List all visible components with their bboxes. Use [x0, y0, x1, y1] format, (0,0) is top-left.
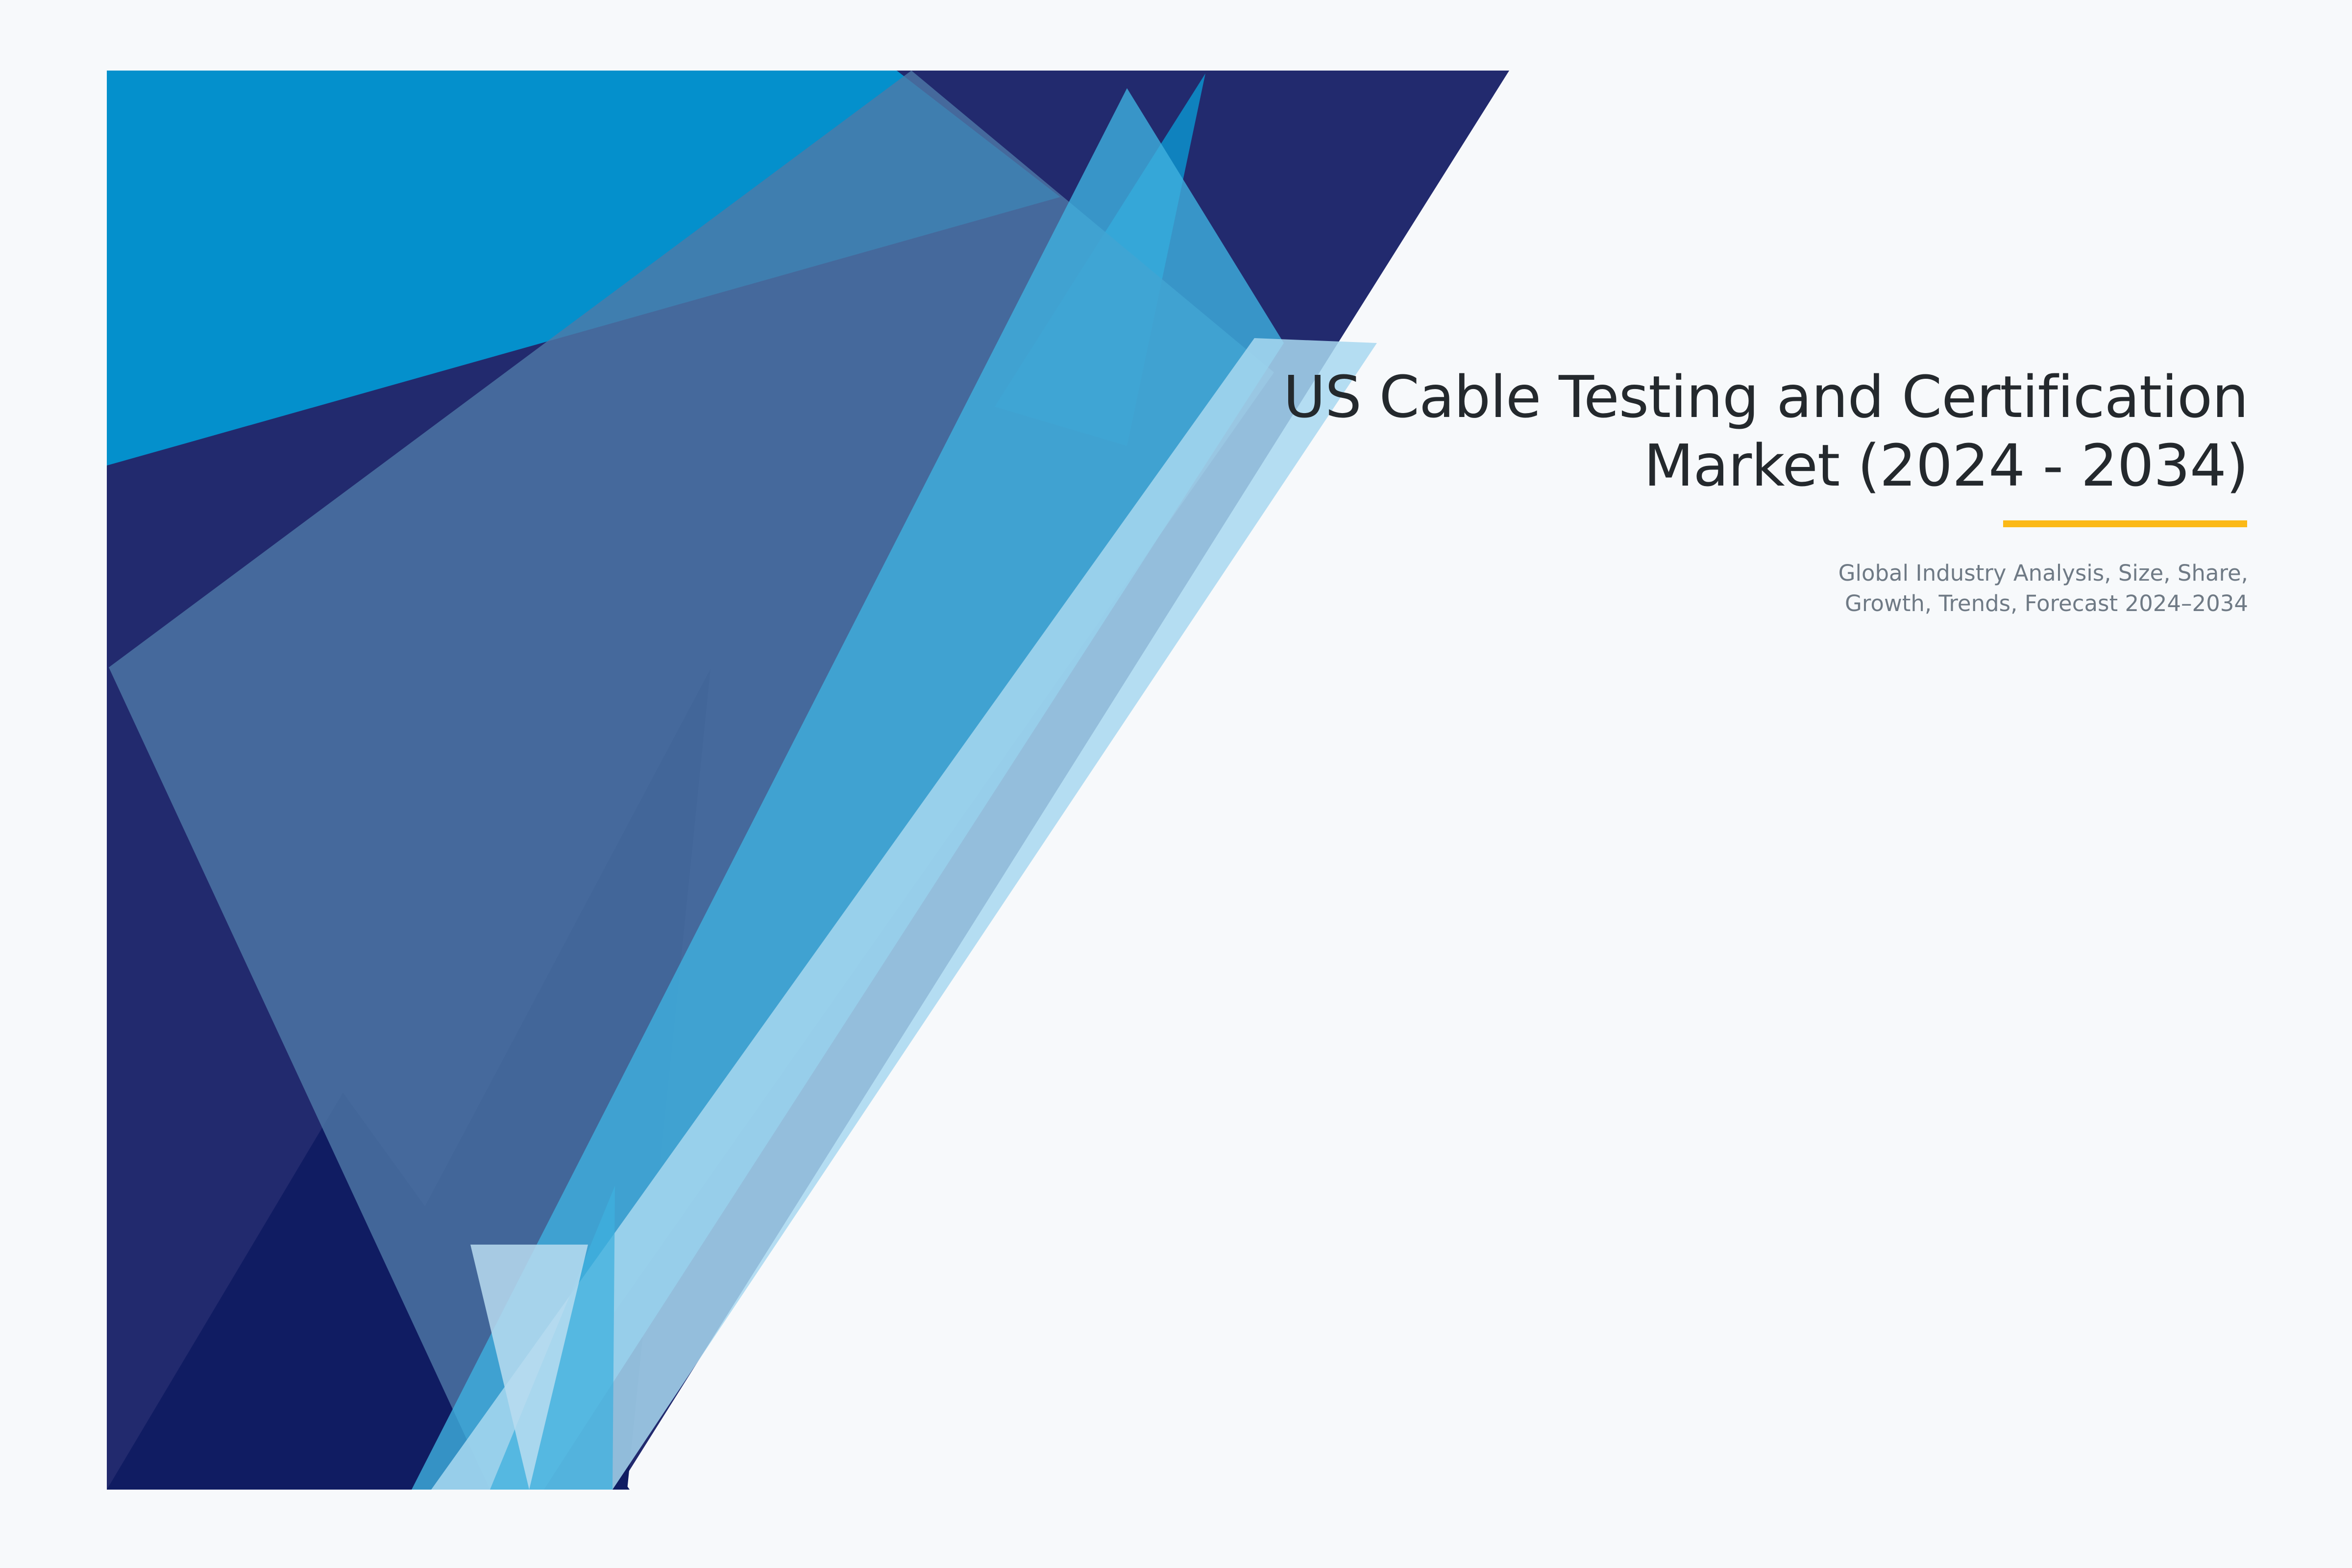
- cover-text-block: US Cable Testing and Certification Marke…: [827, 363, 2248, 619]
- cover-page: US Cable Testing and Certification Marke…: [0, 0, 2352, 1568]
- page-title: US Cable Testing and Certification Marke…: [827, 363, 2248, 500]
- abstract-geometric-artwork: [0, 0, 2352, 1568]
- accent-underline: [2003, 520, 2247, 527]
- page-subtitle: Global Industry Analysis, Size, Share, G…: [827, 500, 2248, 619]
- title-wrapper: US Cable Testing and Certification Marke…: [827, 363, 2248, 500]
